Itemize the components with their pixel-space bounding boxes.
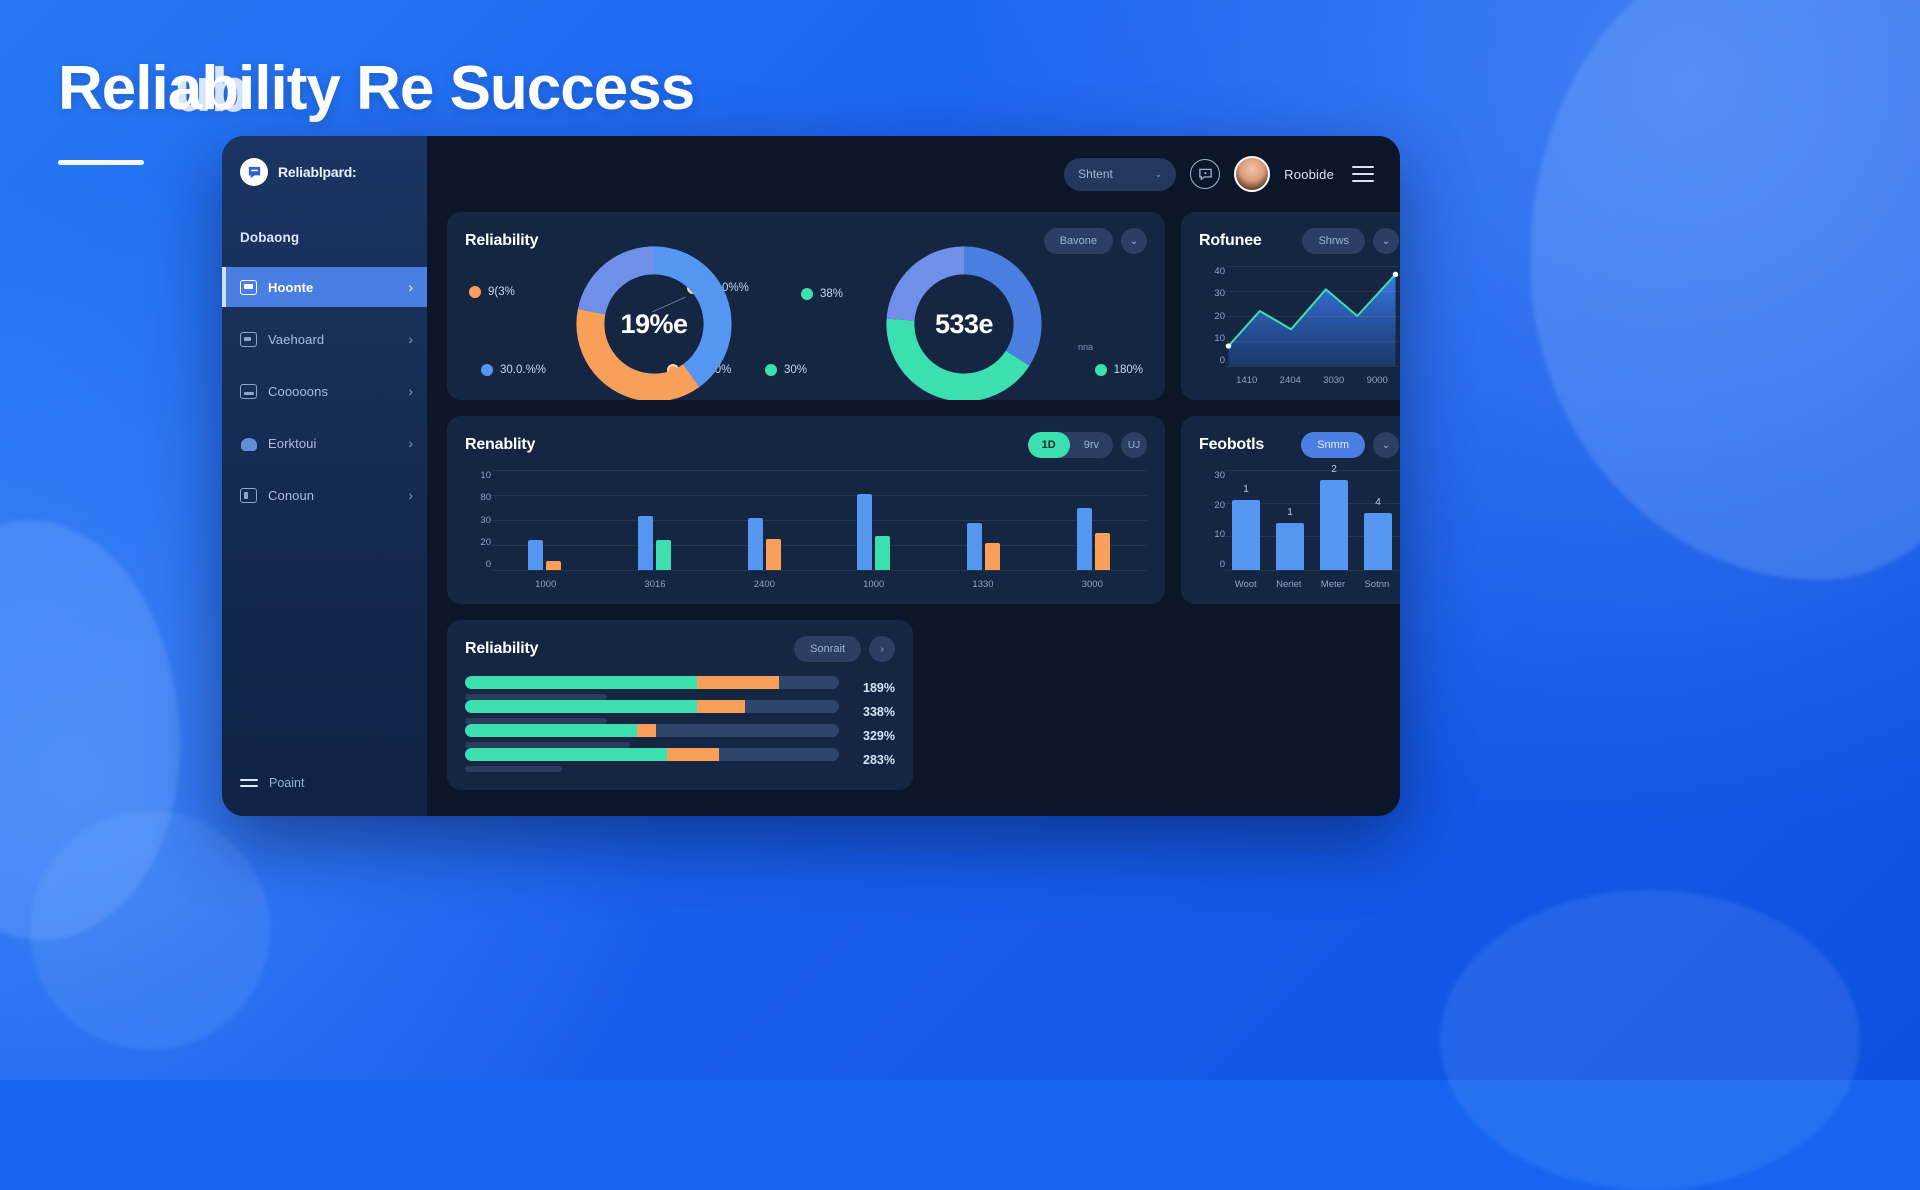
progress-cell (465, 676, 839, 700)
segment-option-active[interactable]: 1D (1028, 432, 1070, 458)
bar: 1 (1276, 523, 1304, 570)
legend-label: 9(3% (488, 286, 515, 298)
progress-value: 283% (849, 753, 895, 767)
progress-value: 189% (849, 681, 895, 695)
filter-chip[interactable]: Sonrait (794, 636, 861, 662)
card-actions: 1D 9rv UJ (1028, 432, 1147, 458)
legend-dot (765, 364, 777, 376)
x-tick: 3000 (1082, 579, 1103, 590)
bar (967, 523, 982, 570)
card-icon (240, 384, 257, 399)
y-tick: 20 (1199, 311, 1225, 322)
chevron-right-icon: › (408, 331, 413, 347)
filter-chip[interactable]: Bavone (1044, 228, 1113, 254)
progress-track (465, 676, 839, 689)
x-tick: 1410 (1236, 375, 1257, 386)
bar-value-label: 2 (1331, 464, 1337, 475)
bar (985, 543, 1000, 570)
dashboard-window: Reliablpard: Dobaong Hoonte › Vaehoard ›… (222, 136, 1400, 816)
y-tick: 10 (465, 470, 491, 481)
progress-cell (465, 748, 839, 772)
filter-chip[interactable]: Snmm (1301, 432, 1365, 458)
donut-chart-left[interactable]: 19%e (570, 240, 738, 400)
y-axis: 40 30 20 10 0 (1199, 262, 1225, 386)
brand[interactable]: Reliablpard: (222, 158, 427, 186)
hamburger-icon[interactable] (1352, 166, 1374, 183)
card-header: Rofunee Shrws ⌄ (1199, 228, 1399, 254)
progress-row[interactable]: 338% (465, 700, 895, 724)
donuts-body: 9(3% 32.0%% 38% 30.0.%% (465, 262, 1147, 386)
bar-chart-body: 10 80 30 20 0 (465, 466, 1147, 590)
segment-option[interactable]: 9rv (1070, 432, 1113, 458)
area-chart-body: 40 30 20 10 0 (1199, 262, 1399, 386)
legend-label: 38% (820, 288, 843, 300)
chevron-right-icon[interactable]: › (869, 636, 895, 662)
sidebar-item-conoun[interactable]: Conoun › (222, 475, 427, 515)
bar (656, 540, 671, 570)
bar (766, 539, 781, 570)
area-markers (1225, 266, 1399, 366)
sidebar-item-label: Hoonte (268, 280, 397, 295)
progress-track (465, 700, 839, 713)
chevron-down-icon[interactable]: ⌄ (1373, 432, 1399, 458)
sidebar-item-hoonte[interactable]: Hoonte › (222, 267, 427, 307)
y-tick: 40 (1199, 266, 1225, 277)
bar-holder: 1 (1276, 470, 1304, 570)
y-axis: 10 80 30 20 0 (465, 466, 491, 590)
legend-dot (469, 286, 481, 298)
sidebar-item-label: Conoun (268, 488, 397, 503)
bar (638, 516, 653, 570)
bar-group (857, 470, 890, 570)
bar-series[interactable] (491, 470, 1147, 570)
x-tick: Woot (1235, 579, 1257, 590)
bar (1095, 533, 1110, 570)
sidebar-section-label: Dobaong (222, 230, 427, 245)
sidebar-footer-item[interactable]: Poaint (222, 776, 427, 816)
card-title: Rofunee (1199, 232, 1262, 250)
decorative-blob (1530, 0, 1920, 580)
bar: 1 (1232, 500, 1260, 570)
avatar[interactable] (1234, 156, 1270, 192)
sidebar-item-cooooons[interactable]: Cooooons › (222, 371, 427, 411)
y-tick: 30 (1199, 288, 1225, 299)
bar-group (748, 470, 781, 570)
y-tick: 80 (465, 492, 491, 503)
sidebar-item-label: Vaehoard (268, 332, 397, 347)
legend-label: 30% (784, 364, 807, 376)
x-axis: Woot Neriet Meter Sotnn (1225, 579, 1399, 590)
card-actions: Snmm ⌄ (1301, 432, 1399, 458)
bar-value-label: 1 (1243, 484, 1249, 495)
user-icon (240, 436, 257, 451)
progress-cell (465, 724, 839, 748)
chevron-right-icon: › (408, 487, 413, 503)
x-tick: 1000 (863, 579, 884, 590)
dashboard-icon (240, 280, 257, 295)
chevron-right-icon: › (408, 435, 413, 451)
hero-underline-rule (58, 160, 144, 165)
filter-chip[interactable]: Shrws (1302, 228, 1365, 254)
progress-row[interactable]: 329% (465, 724, 895, 748)
y-tick: 20 (1199, 500, 1225, 511)
bar-group (967, 470, 1000, 570)
more-options-icon[interactable]: UJ (1121, 432, 1147, 458)
topbar-dropdown-label: Shtent (1078, 167, 1113, 181)
y-tick: 30 (1199, 470, 1225, 481)
progress-fill-orange (637, 724, 656, 737)
bar (875, 536, 890, 570)
legend-dot (481, 364, 493, 376)
y-tick: 10 (1199, 333, 1225, 344)
card-grouped-bars: Renablity 1D 9rv UJ 10 80 30 20 (447, 416, 1165, 604)
x-axis: 1410 2404 3030 9000 (1225, 375, 1399, 386)
sidebar-spacer (222, 527, 427, 776)
plot: 1000 3016 2400 1000 1330 3000 (491, 466, 1147, 590)
leader-label: nna (1078, 342, 1093, 352)
progress-list: 189% 338% (465, 670, 895, 776)
bar (748, 518, 763, 570)
bar (857, 494, 872, 570)
progress-fill-teal (465, 676, 697, 689)
y-tick: 10 (1199, 529, 1225, 540)
cards-grid: Reliability Bavone ⌄ 9(3% 32.0%% (427, 212, 1400, 816)
card-progress: Reliability Sonrait › (447, 620, 913, 790)
bar-value-label: 1 (1287, 507, 1293, 518)
sidebar-footer-label: Poaint (269, 776, 304, 790)
bar-group (528, 470, 561, 570)
y-tick: 30 (465, 515, 491, 526)
progress-fill-orange (667, 748, 719, 761)
chevron-down-icon: ⌄ (1155, 169, 1163, 180)
single-bar-body: 30 20 10 0 (1199, 466, 1399, 590)
progress-subbar (465, 766, 562, 772)
box-icon (240, 488, 257, 503)
hamburger-icon (240, 779, 258, 788)
legend-dot (801, 288, 813, 300)
progress-fill-teal (465, 700, 697, 713)
chart-icon (240, 332, 257, 347)
bar-holder: 4 (1364, 470, 1392, 570)
card-actions: Shrws ⌄ (1302, 228, 1399, 254)
segmented-control[interactable]: 1D 9rv (1028, 432, 1113, 458)
decorative-blob (1440, 890, 1860, 1190)
card-actions: Sonrait › (794, 636, 895, 662)
y-tick: 0 (465, 559, 491, 570)
donut-center-value: 19%e (570, 240, 738, 400)
donut-center-value: 533e (880, 240, 1048, 400)
bar-series[interactable]: 1 1 2 (1225, 470, 1399, 570)
x-tick: 3030 (1323, 375, 1344, 386)
progress-value: 329% (849, 729, 895, 743)
card-header: Renablity 1D 9rv UJ (465, 432, 1147, 458)
x-axis: 1000 3016 2400 1000 1330 3000 (491, 579, 1147, 590)
card-header: Feobotls Snmm ⌄ (1199, 432, 1399, 458)
sidebar: Reliablpard: Dobaong Hoonte › Vaehoard ›… (222, 136, 427, 816)
y-tick: 0 (1199, 355, 1225, 366)
main-area: Shtent ⌄ Roobide Reliability Bavone ⌄ (427, 136, 1400, 816)
card-actions: Bavone ⌄ (1044, 228, 1147, 254)
progress-track (465, 724, 839, 737)
chat-bubble-logo-icon (240, 158, 268, 186)
card-single-bars: Feobotls Snmm ⌄ 30 20 10 0 (1181, 416, 1400, 604)
x-tick: 1330 (972, 579, 993, 590)
bar-holder: 2 (1320, 470, 1348, 570)
x-tick: 2400 (754, 579, 775, 590)
progress-fill-teal (465, 724, 637, 737)
bar: 2 (1320, 480, 1348, 570)
y-tick: 0 (1199, 559, 1225, 570)
y-axis: 30 20 10 0 (1199, 466, 1225, 590)
card-area-chart: Rofunee Shrws ⌄ 40 30 20 10 0 (1181, 212, 1400, 400)
topbar: Shtent ⌄ Roobide (427, 136, 1400, 212)
plot-area[interactable] (1225, 266, 1399, 366)
bar-group (638, 470, 671, 570)
progress-track (465, 748, 839, 761)
sidebar-item-vaehoard[interactable]: Vaehoard › (222, 319, 427, 359)
legend-label: 180% (1114, 364, 1143, 376)
card-title: Reliability (465, 640, 538, 658)
progress-fill-teal (465, 748, 667, 761)
donut-chart-right[interactable]: 533e (880, 240, 1048, 400)
user-name: Roobide (1284, 167, 1334, 182)
x-tick: Neriet (1276, 579, 1301, 590)
bar (528, 540, 543, 570)
chevron-right-icon: › (408, 383, 413, 399)
card-title: Feobotls (1199, 436, 1264, 454)
chevron-right-icon: › (408, 279, 413, 295)
bar-holder: 1 (1232, 470, 1260, 570)
bar (546, 561, 561, 570)
x-tick: 9000 (1367, 375, 1388, 386)
x-tick: 2404 (1280, 375, 1301, 386)
progress-fill-orange (697, 700, 746, 713)
card-header: Reliability Sonrait › (465, 636, 895, 662)
chevron-down-icon[interactable]: ⌄ (1373, 228, 1399, 254)
progress-cell (465, 700, 839, 724)
bar (1077, 508, 1092, 570)
search-chat-icon[interactable] (1190, 159, 1220, 189)
legend-entry: 9(3% (469, 286, 515, 298)
brand-name: Reliablpard: (278, 164, 357, 180)
x-tick: 3016 (644, 579, 665, 590)
plot: 1410 2404 3030 9000 (1225, 262, 1399, 386)
sidebar-item-eorktoui[interactable]: Eorktoui › (222, 423, 427, 463)
legend-entry: 30% (765, 364, 807, 376)
sidebar-item-label: Eorktoui (268, 436, 397, 451)
card-donuts: Reliability Bavone ⌄ 9(3% 32.0%% (447, 212, 1165, 400)
sidebar-item-label: Cooooons (268, 384, 397, 399)
chevron-down-icon[interactable]: ⌄ (1121, 228, 1147, 254)
legend-entry: 30.0.%% (481, 364, 546, 376)
card-title: Reliability (465, 232, 538, 250)
topbar-dropdown[interactable]: Shtent ⌄ (1064, 158, 1176, 191)
x-tick: Meter (1321, 579, 1345, 590)
plot: 1 1 2 (1225, 466, 1399, 590)
card-title: Renablity (465, 436, 535, 454)
legend-label: 30.0.%% (500, 364, 546, 376)
bar-value-label: 4 (1375, 497, 1381, 508)
legend-dot (1095, 364, 1107, 376)
y-tick: 20 (465, 537, 491, 548)
legend-entry: 38% (801, 288, 843, 300)
decorative-blob (30, 810, 270, 1050)
bar-group (1077, 470, 1110, 570)
hero-title: Reliability Re Success (58, 58, 694, 120)
x-tick: Sotnn (1364, 579, 1389, 590)
legend-entry: 180% (1095, 364, 1143, 376)
progress-row[interactable]: 189% (465, 676, 895, 700)
bar: 4 (1364, 513, 1392, 570)
x-tick: 1000 (535, 579, 556, 590)
progress-fill-orange (697, 676, 779, 689)
progress-value: 338% (849, 705, 895, 719)
progress-row[interactable]: 283% (465, 748, 895, 772)
